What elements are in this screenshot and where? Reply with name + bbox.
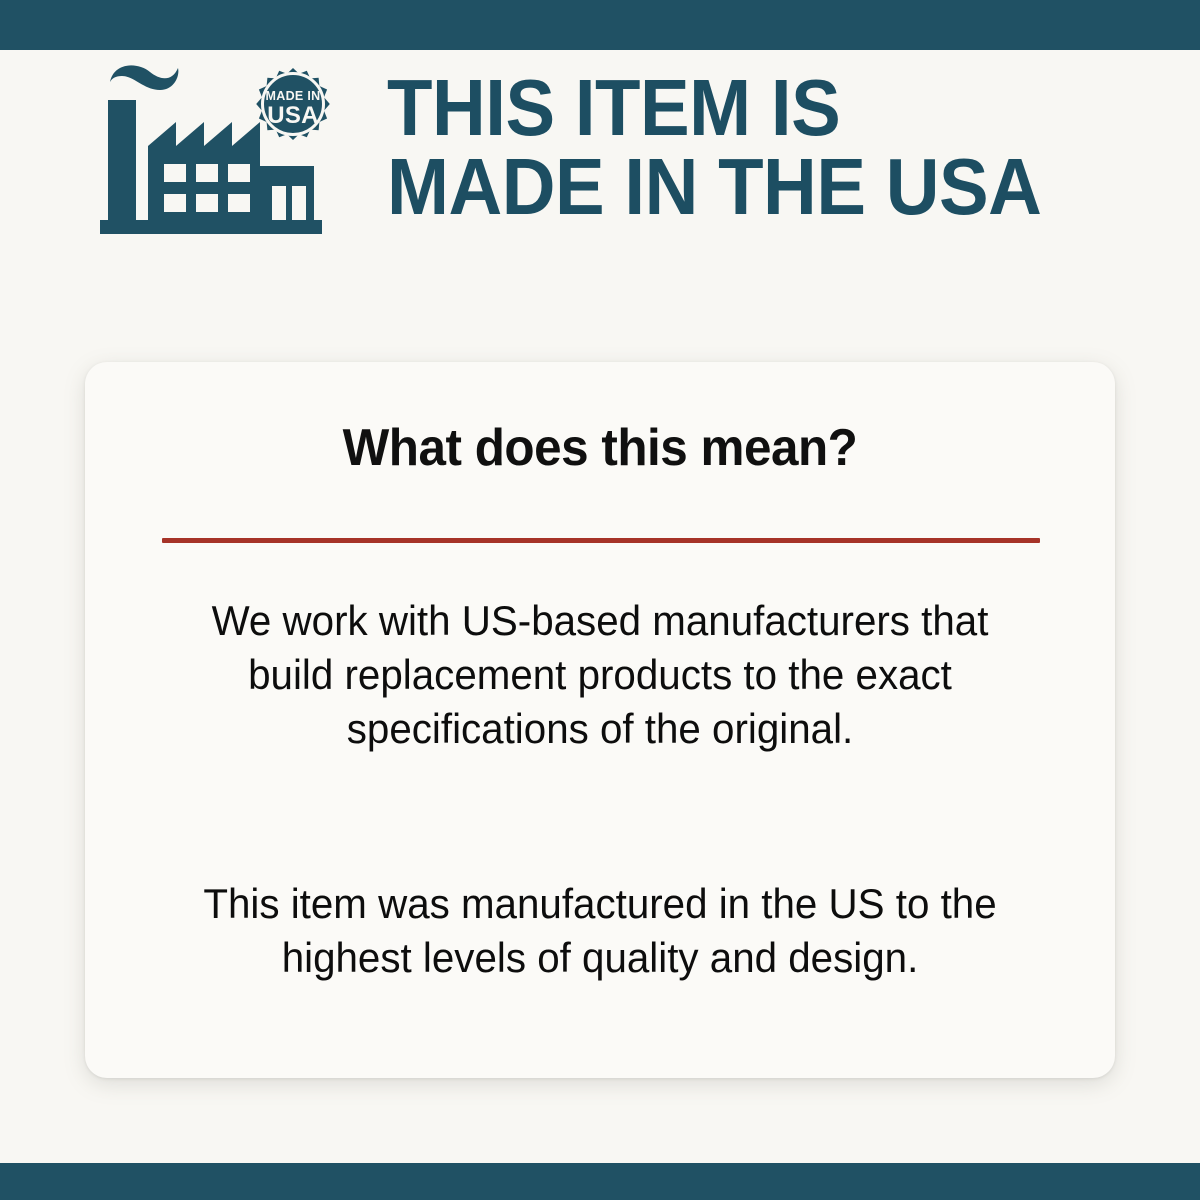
page-title: THIS ITEM IS MADE IN THE USA — [387, 69, 1106, 226]
factory-tall-window — [272, 186, 286, 220]
smoke-icon — [110, 65, 178, 90]
chimney-shape — [108, 100, 136, 220]
factory-window — [164, 194, 186, 212]
top-accent-bar — [0, 0, 1200, 50]
card-divider — [162, 538, 1040, 543]
headline-line-1: THIS ITEM IS — [387, 69, 1106, 147]
header: MADE IN USA THIS ITEM IS MADE IN THE USA — [100, 50, 1160, 245]
factory-base-shape — [100, 220, 322, 234]
card-paragraph-1: We work with US-based manufacturers that… — [173, 594, 1027, 755]
info-card: What does this mean? We work with US-bas… — [85, 362, 1115, 1078]
factory-window — [228, 194, 250, 212]
headline-line-2: MADE IN THE USA — [387, 148, 1106, 226]
card-title: What does this mean? — [111, 422, 1090, 474]
factory-made-in-usa-logo: MADE IN USA — [100, 58, 335, 238]
made-in-usa-badge-icon: MADE IN USA — [251, 64, 334, 144]
factory-window — [196, 194, 218, 212]
factory-window — [196, 164, 218, 182]
factory-window — [228, 164, 250, 182]
factory-window — [164, 164, 186, 182]
badge-line-1: MADE IN — [266, 89, 321, 103]
card-paragraph-2: This item was manufactured in the US to … — [173, 877, 1027, 985]
badge-line-2: USA — [267, 102, 319, 129]
bottom-accent-bar — [0, 1163, 1200, 1200]
factory-tall-window — [292, 186, 306, 220]
